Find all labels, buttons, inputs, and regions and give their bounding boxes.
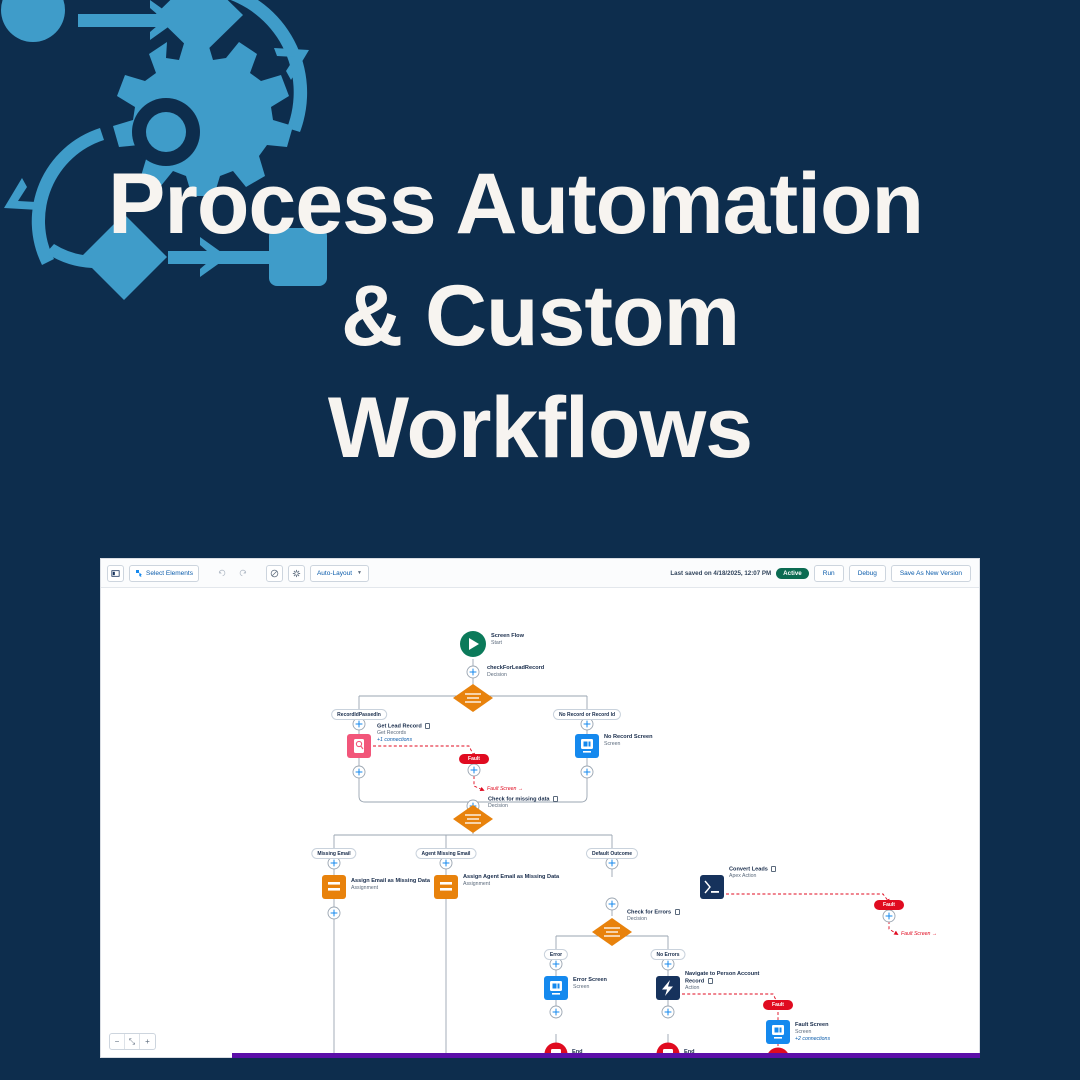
label-decision-1-type: Decision [487,672,544,679]
save-as-new-version-button[interactable]: Save As New Version [891,565,971,582]
label-navigate-name: Navigate to Person Account Record [685,971,775,985]
hero-line-3: Workflows [0,372,1080,484]
plus-circle-icon [353,766,365,778]
label-fault-screen-type: Screen [795,1029,830,1036]
label-assignment-2-type: Assignment [463,881,561,888]
branch-pill-no-record-or-record-id[interactable]: No Record or Record Id [553,709,621,720]
zoom-fit-button[interactable]: ⤡ [125,1034,140,1049]
panel-toggle-button[interactable] [107,565,124,582]
select-elements-button[interactable]: Select Elements [129,565,199,582]
select-elements-label: Select Elements [146,570,193,577]
zoom-controls[interactable]: − ⤡ + [109,1033,156,1050]
label-no-record-screen-type: Screen [604,741,653,748]
fault-badge-1[interactable]: Fault [459,754,489,764]
label-fault-screen-connections[interactable]: +2 connections [795,1036,830,1043]
label-assignment-1-name: Assign Email as Missing Data [351,878,445,885]
branch-pill-recordidpassedin[interactable]: RecordIdPassedIn [331,709,387,720]
label-no-record-screen-name: No Record Screen [604,734,653,741]
node-decision-checkforleadrecord[interactable] [453,684,493,712]
undo-button[interactable] [213,565,230,582]
plus-circle-icon [662,1006,674,1018]
node-convert-leads[interactable] [700,875,724,899]
node-start[interactable] [460,631,486,657]
label-decision-1-name: checkForLeadRecord [487,665,544,672]
label-fault-screen-name: Fault Screen [795,1022,830,1029]
label-assignment-2-name: Assign Agent Email as Missing Data [463,874,561,881]
plus-circle-icon [550,1006,562,1018]
flow-toolbar: Select Elements [101,559,979,588]
label-navigate-type: Action [685,985,775,992]
label-decision-1: checkForLeadRecord Decision [487,665,544,679]
flow-diagram [101,588,980,1058]
debug-button[interactable]: Debug [849,565,886,582]
node-fault-screen[interactable] [766,1020,790,1044]
node-get-lead-record[interactable] [347,734,371,758]
element-menu-icon[interactable] [425,723,430,729]
branch-pill-no-errors[interactable]: No Errors [650,949,685,960]
node-error-screen[interactable] [544,976,568,1000]
cursor-select-icon [135,569,143,577]
branch-pill-missing-email[interactable]: Missing Email [311,848,356,859]
label-fault-screen: Fault Screen Screen +2 connections [795,1022,830,1043]
auto-layout-label: Auto-Layout [317,570,352,577]
run-button[interactable]: Run [814,565,844,582]
toolbar-right-group: Last saved on 4/18/2025, 12:07 PM Active… [670,565,973,582]
undo-icon [217,569,226,578]
node-assign-email-as-missing-data[interactable] [322,875,346,899]
plus-circle-icon [467,666,479,678]
flow-builder-screenshot: Select Elements [100,558,980,1058]
zoom-in-button[interactable]: + [140,1034,155,1049]
apex-action-icon [700,875,724,899]
label-decision-3-type: Decision [627,916,680,923]
node-decision-check-for-errors[interactable] [592,918,632,946]
label-error-screen-name: Error Screen [573,977,607,984]
fault-link-1[interactable]: Fault Screen → [487,786,523,792]
run-label: Run [823,570,835,577]
plus-circle-icon [581,766,593,778]
deco-curve [218,0,307,132]
hero-line-2: & Custom [0,260,1080,372]
auto-layout-dropdown[interactable]: Auto-Layout ▼ [310,565,369,582]
plus-circle-icon [328,907,340,919]
save-as-new-version-label: Save As New Version [900,570,962,577]
label-start-name: Screen Flow [491,633,524,640]
label-decision-2: Check for missing data Decision [488,796,558,810]
element-menu-icon[interactable] [675,909,680,915]
branch-pill-default-outcome[interactable]: Default Outcome [586,848,638,859]
element-menu-icon[interactable] [553,796,558,802]
prohibited-button[interactable] [266,565,283,582]
label-assignment-1-type: Assignment [351,885,445,892]
fault-link-2[interactable]: Fault Screen → [901,931,937,937]
flow-canvas[interactable]: RecordIdPassedIn No Record or Record Id … [101,588,979,1058]
label-get-lead-record-type: Get Records [377,730,430,737]
label-convert-leads-type: Apex Action [729,873,776,880]
label-assignment-2: Assign Agent Email as Missing Data Assig… [463,874,561,888]
prohibited-icon [270,569,279,578]
label-assignment-1: Assign Email as Missing Data Assignment [351,878,445,892]
label-decision-3-name: Check for Errors [627,909,680,916]
label-error-screen-type: Screen [573,984,607,991]
gear-icon [292,569,301,578]
node-decision-check-for-missing-data[interactable] [453,805,493,833]
last-saved-text: Last saved on 4/18/2025, 12:07 PM [670,570,771,577]
label-error-screen: Error Screen Screen [573,977,607,991]
element-menu-icon[interactable] [708,978,713,984]
label-decision-3: Check for Errors Decision [627,909,680,923]
purple-accent-bar [232,1053,980,1058]
deco-circle-icon [1,0,65,42]
panel-toggle-icon [111,569,120,578]
node-no-record-screen[interactable] [575,734,599,758]
plus-circle-icon [883,910,895,922]
branch-pill-agent-missing-email[interactable]: Agent Missing Email [416,848,477,859]
zoom-out-button[interactable]: − [110,1034,125,1049]
chevron-down-icon: ▼ [357,570,362,576]
label-start: Screen Flow Start [491,633,524,647]
label-get-lead-record-connections[interactable]: +1 connections [377,737,430,744]
label-decision-2-type: Decision [488,803,558,810]
status-badge: Active [776,568,809,579]
plus-circle-icon [606,898,618,910]
label-get-lead-record-name: Get Lead Record [377,723,430,730]
debug-label: Debug [858,570,877,577]
hero-title: Process Automation & Custom Workflows [0,148,1080,484]
element-menu-icon[interactable] [771,866,776,872]
label-convert-leads-name: Convert Leads [729,866,776,873]
deco-arrowhead-icon [274,48,309,80]
label-decision-2-name: Check for missing data [488,796,558,803]
settings-button[interactable] [288,565,305,582]
hero-line-1: Process Automation [0,148,1080,260]
redo-icon [239,569,248,578]
node-navigate-to-person-account-record[interactable] [656,976,680,1000]
label-get-lead-record: Get Lead Record Get Records +1 connectio… [377,723,430,744]
deco-arrow-line [78,14,190,27]
label-start-type: Start [491,640,524,647]
deco-arrowhead-icon [150,0,178,40]
assignment-icon [322,875,346,899]
label-no-record-screen: No Record Screen Screen [604,734,653,748]
deco-diamond-icon [155,0,243,58]
fault-badge-2[interactable]: Fault [874,900,904,910]
label-navigate: Navigate to Person Account Record Action [685,971,775,992]
label-convert-leads: Convert Leads Apex Action [729,866,776,880]
branch-pill-error[interactable]: Error [544,949,568,960]
fault-badge-3[interactable]: Fault [763,1000,793,1010]
redo-button[interactable] [235,565,252,582]
plus-circle-icon [468,764,480,776]
